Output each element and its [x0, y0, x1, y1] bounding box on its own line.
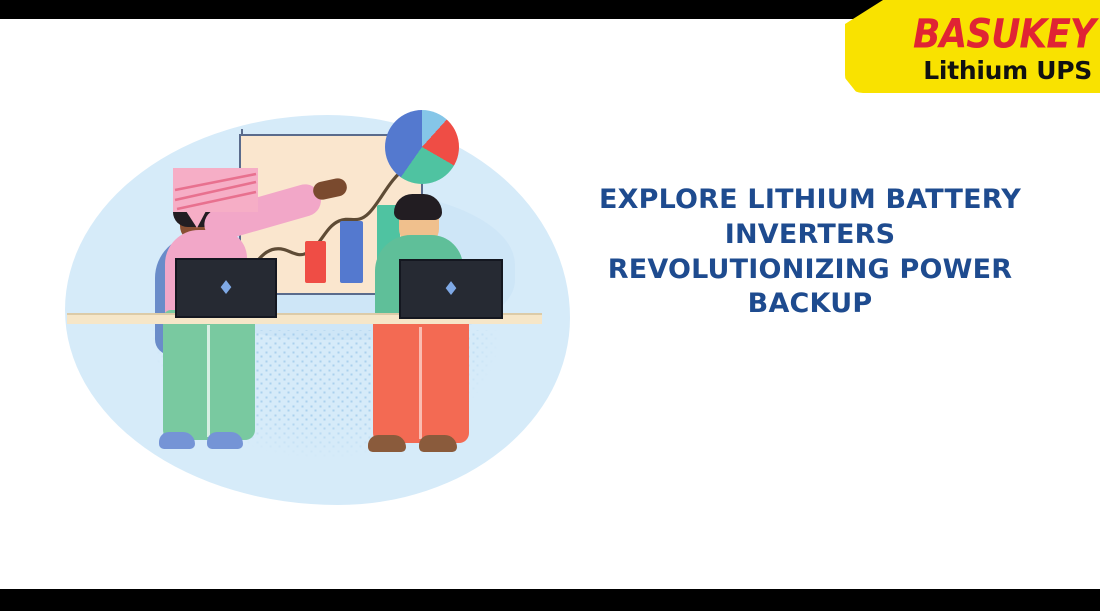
right-person-hair	[394, 194, 442, 220]
brand-tagline: Lithium UPS	[870, 54, 1092, 86]
headline-line-3: REVOLUTIONIZING POWER	[560, 253, 1060, 288]
laptop-right: ♦	[399, 259, 503, 319]
speech-card	[173, 168, 258, 212]
headline-line-4: BACKUP	[560, 287, 1060, 322]
slide-canvas: ♦ ♦ EXPLORE LITHIUM BATTERY INVERTERS RE…	[0, 0, 1100, 611]
left-person-leg-seam	[207, 325, 210, 437]
headline-line-1: EXPLORE LITHIUM BATTERY	[560, 183, 1060, 218]
right-person-leg-seam	[419, 327, 422, 439]
right-person-shoe-front	[419, 435, 457, 452]
headline-line-2: INVERTERS	[560, 218, 1060, 253]
left-person-shoe-back	[159, 432, 195, 449]
letterbox-bottom-bar	[0, 589, 1100, 611]
right-person-shoe-back	[368, 435, 406, 452]
pie-chart	[385, 110, 459, 184]
hero-illustration: ♦ ♦	[55, 95, 595, 495]
speech-card-tail	[186, 211, 206, 228]
bar-chart-bar-1	[305, 241, 326, 283]
speech-card-lines	[173, 168, 258, 212]
page-title: EXPLORE LITHIUM BATTERY INVERTERS REVOLU…	[560, 183, 1060, 322]
bar-chart-bar-2	[340, 221, 363, 283]
left-person-shoe-front	[207, 432, 243, 449]
brand-name: BASUKEY	[870, 12, 1095, 57]
laptop-right-screen-logo-icon: ♦	[442, 280, 459, 299]
laptop-left: ♦	[175, 258, 277, 318]
laptop-left-screen-logo-icon: ♦	[217, 279, 234, 298]
